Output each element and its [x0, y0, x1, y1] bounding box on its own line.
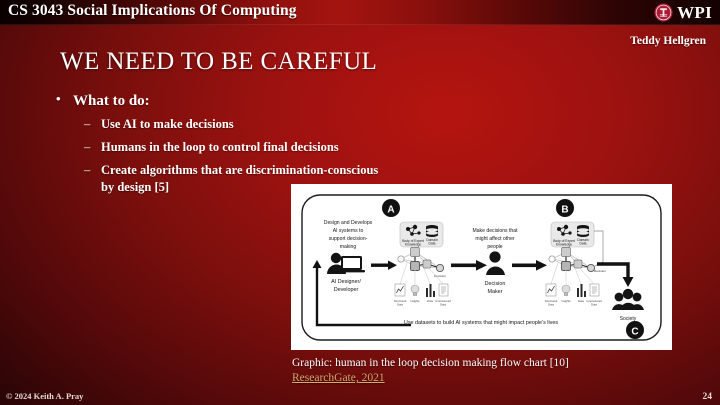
caption-text: Graphic: human in the loop decision maki… [292, 357, 569, 369]
svg-text:Insights: Insights [561, 299, 571, 303]
svg-text:Design and Develops: Design and Develops [324, 220, 373, 226]
svg-text:Make decisions that: Make decisions that [472, 228, 518, 234]
bullet-text: Use AI to make decisions [101, 116, 234, 132]
wpi-seal-icon [654, 3, 673, 22]
bullet-marker: – [84, 139, 93, 155]
course-title: CS 3043 Social Implications Of Computing [8, 2, 297, 20]
flowchart-figure: A B C Design and Develops AI systems to … [291, 184, 672, 350]
svg-text:Data: Data [591, 302, 597, 306]
svg-text:Data: Data [578, 299, 584, 303]
bullet-marker: – [84, 116, 93, 132]
slide-canvas: CS 3043 Social Implications Of Computing… [0, 0, 720, 405]
svg-text:Decision: Decision [594, 269, 606, 273]
svg-text:support decision-: support decision- [329, 236, 368, 242]
bullet-text: What to do: [73, 92, 150, 111]
bullet-marker: • [56, 92, 64, 107]
svg-text:Knowledge: Knowledge [405, 243, 421, 247]
svg-text:AI Designer/: AI Designer/ [331, 279, 361, 285]
figure-caption: Graphic: human in the loop decision maki… [292, 356, 682, 386]
bottom-note-label: Use datasets to build AI systems that mi… [404, 320, 558, 326]
bullet-level2: – Use AI to make decisions [84, 116, 386, 132]
svg-text:Data: Data [440, 302, 446, 306]
svg-text:people: people [487, 244, 502, 250]
svg-text:Data: Data [548, 302, 554, 306]
svg-text:Knowledge: Knowledge [556, 243, 572, 247]
copyright-notice: © 2024 Keith A. Pray [6, 391, 83, 401]
bullet-marker: – [84, 162, 93, 178]
svg-text:might affect other: might affect other [475, 236, 515, 242]
society-label: Society [620, 316, 637, 322]
svg-text:Maker: Maker [488, 289, 503, 295]
svg-text:Insights: Insights [410, 299, 420, 303]
author-name: Teddy Hellgren [630, 35, 706, 47]
caption-source-link[interactable]: ResearchGate, 2021 [292, 371, 385, 386]
page-number: 24 [703, 392, 713, 402]
svg-text:Data: Data [397, 302, 403, 306]
bullet-text: Humans in the loop to control final deci… [101, 139, 339, 155]
svg-text:Data: Data [429, 242, 436, 246]
bullet-level2: – Humans in the loop to control final de… [84, 139, 386, 155]
svg-text:making: making [340, 244, 357, 250]
badge-c-label: C [631, 327, 638, 338]
svg-text:AI systems to: AI systems to [333, 228, 364, 234]
flowchart-svg: A B C Design and Develops AI systems to … [291, 184, 672, 350]
badge-a-label: A [387, 205, 394, 216]
slide-header-bar: CS 3043 Social Implications Of Computing… [0, 0, 720, 25]
bullet-level1: • What to do: [56, 92, 386, 111]
svg-text:Data: Data [427, 299, 433, 303]
wpi-logo: WPI [654, 1, 712, 24]
badge-b-label: B [561, 205, 568, 216]
svg-text:Decision: Decision [485, 281, 506, 287]
svg-text:Developer: Developer [334, 287, 359, 293]
wpi-wordmark: WPI [677, 4, 712, 21]
svg-text:Data: Data [580, 242, 587, 246]
slide-title: WE NEED TO BE CAREFUL [60, 48, 377, 76]
